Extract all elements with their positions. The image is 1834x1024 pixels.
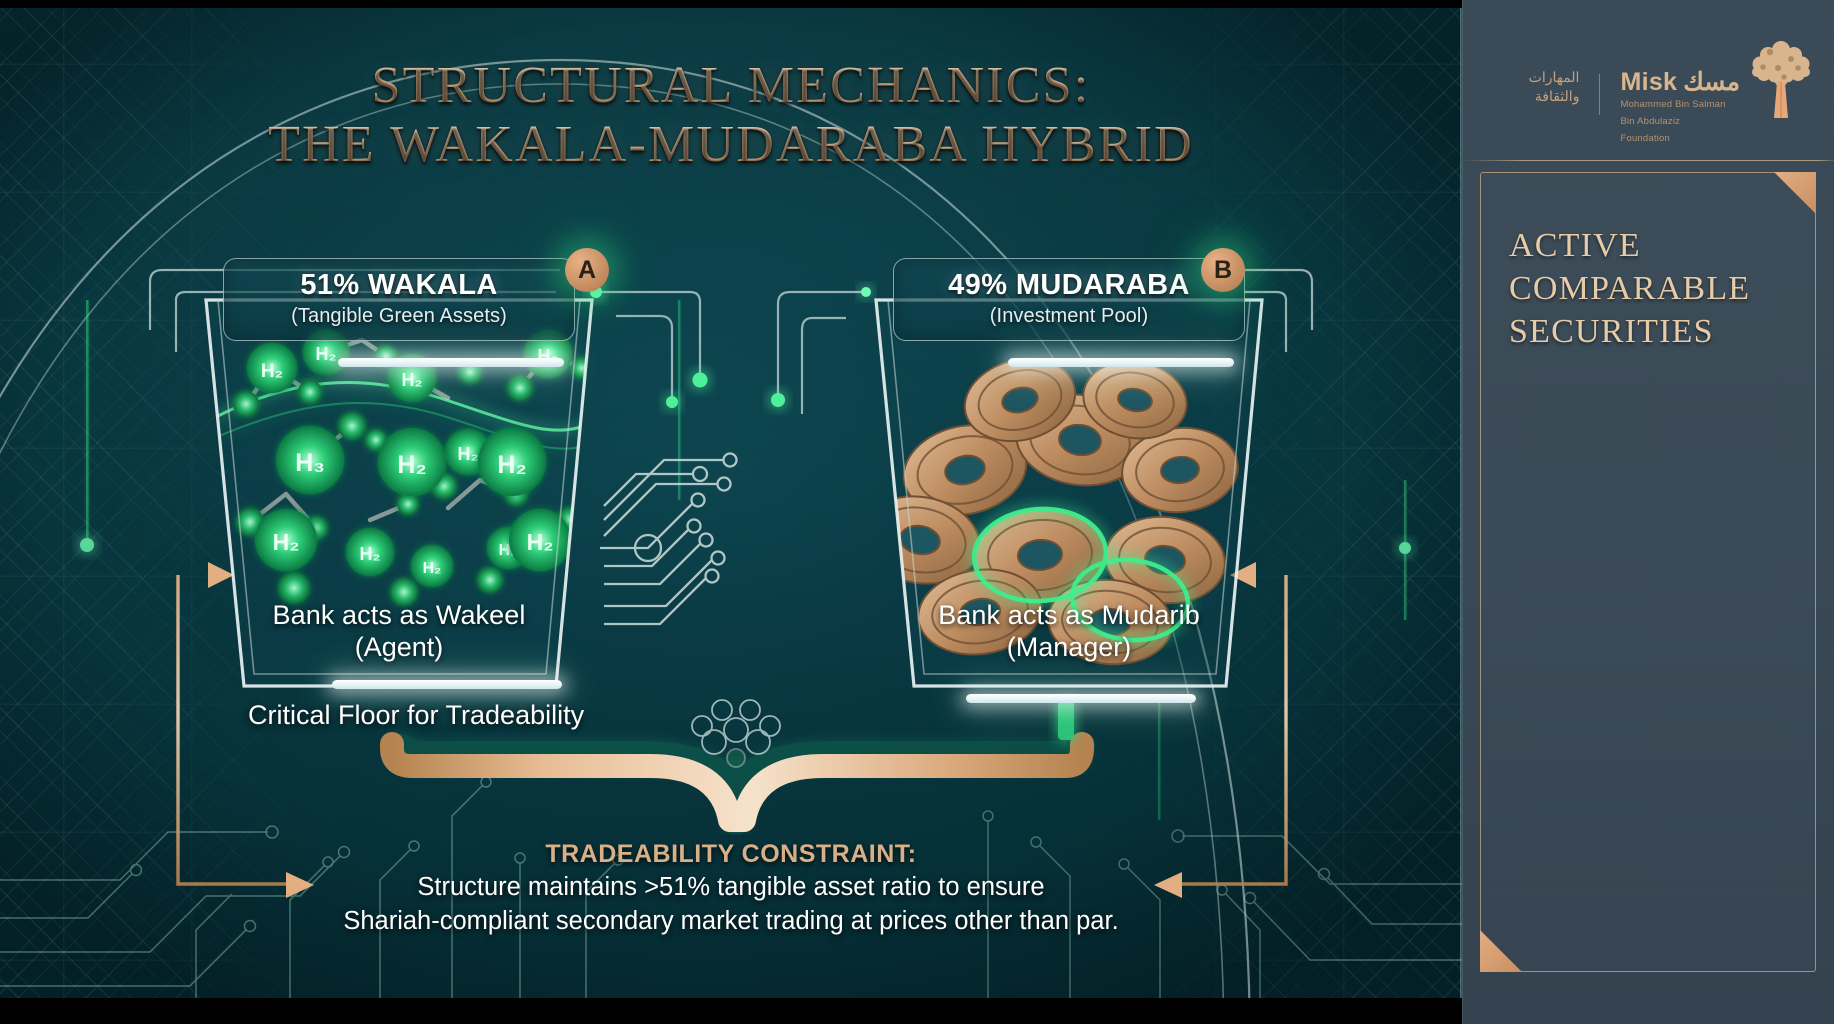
critical-floor-label: Critical Floor for Tradeability — [248, 700, 584, 731]
tree-logo-icon — [1750, 34, 1812, 120]
panel-mudaraba-subtitle: (Investment Pool) — [904, 305, 1234, 328]
logo-wordmark-latin: Misk — [1620, 70, 1677, 95]
panel-wakala-level-bar-top — [338, 358, 564, 367]
logo-arabic-line-2: والثقافة — [1529, 87, 1580, 106]
logo-tagline-3: Foundation — [1620, 133, 1740, 146]
panel-mudaraba-percent: 49% MUDARABA — [904, 269, 1234, 302]
center-ornament — [692, 700, 780, 767]
right-sidebar: المهارات والثقافة Misk مسك Mohammed Bin … — [1462, 0, 1834, 1024]
main-stage: H₂ H₂ H₂ H₂ H₂ H₃ H₂ — [0, 0, 1462, 1024]
logo-arabic-secondary: المهارات والثقافة — [1529, 34, 1580, 106]
constraint-line-2: Shariah-compliant secondary market tradi… — [0, 906, 1462, 937]
sidebar-corner-top-right — [1774, 172, 1816, 214]
misk-logo: المهارات والثقافة Misk مسك Mohammed Bin … — [1529, 34, 1812, 145]
node-dot — [771, 393, 785, 407]
node-dot — [861, 287, 871, 297]
tradeability-constraint: TRADEABILITY CONSTRAINT: Structure maint… — [0, 840, 1462, 937]
logo-divider — [1599, 74, 1600, 115]
sidebar-title-line-2: COMPARABLE — [1509, 268, 1799, 311]
panel-mudaraba-role: Bank acts as Mudarib (Manager) — [859, 600, 1279, 663]
panel-mudaraba-header: 49% MUDARABA (Investment Pool) — [893, 258, 1245, 341]
logo-tagline-1: Mohammed Bin Salman — [1620, 99, 1740, 112]
panel-mudaraba-level-bar-top — [1008, 358, 1234, 367]
logo-arabic-line-1: المهارات — [1529, 68, 1580, 87]
panel-wakala-subtitle: (Tangible Green Assets) — [234, 305, 564, 328]
panel-wakala-percent: 51% WAKALA — [234, 269, 564, 302]
node-dot — [666, 396, 678, 408]
badge-a[interactable]: A — [565, 248, 609, 292]
panel-mudaraba-role-line1: Bank acts as Mudarib — [859, 600, 1279, 631]
panel-mudaraba-level-bar-bottom — [966, 694, 1196, 703]
constraint-line-1: Structure maintains >51% tangible asset … — [0, 872, 1462, 903]
circuit-fan-center — [600, 454, 737, 625]
page-title: STRUCTURAL MECHANICS: THE WAKALA-MUDARAB… — [0, 56, 1462, 175]
panel-wakala-role: Bank acts as Wakeel (Agent) — [189, 600, 609, 663]
sidebar-title: ACTIVE COMPARABLE SECURITIES — [1509, 225, 1799, 353]
panel-seam — [1460, 0, 1463, 1024]
beam-node — [1058, 700, 1074, 740]
letterbox-bottom — [0, 998, 1462, 1024]
title-line-1: STRUCTURAL MECHANICS: — [0, 56, 1462, 115]
panel-wakala-role-line1: Bank acts as Wakeel — [189, 600, 609, 631]
sidebar-title-line-1: ACTIVE — [1509, 225, 1799, 268]
logo-wordmark-arabic: مسك — [1683, 70, 1740, 95]
panel-wakala-role-line2: (Agent) — [189, 632, 609, 663]
badge-b[interactable]: B — [1201, 248, 1245, 292]
logo-wordmark-row: Misk مسك — [1620, 70, 1740, 95]
logo-tagline-2: Bin Abdulaziz — [1620, 116, 1740, 129]
letterbox-top — [0, 0, 1462, 8]
constraint-title: TRADEABILITY CONSTRAINT: — [0, 840, 1462, 869]
panel-mudaraba-role-line2: (Manager) — [859, 632, 1279, 663]
sidebar-title-line-3: SECURITIES — [1509, 311, 1799, 354]
logo-wordmark: Misk مسك Mohammed Bin Salman Bin Abdulaz… — [1620, 34, 1740, 145]
slide-canvas: H₂ H₂ H₂ H₂ H₂ H₃ H₂ — [0, 0, 1834, 1024]
panel-wakala-header: 51% WAKALA (Tangible Green Assets) — [223, 258, 575, 341]
panel-wakala-level-bar-bottom — [332, 680, 562, 689]
sidebar-corner-bottom-left — [1480, 930, 1522, 972]
node-dot — [693, 373, 708, 388]
title-line-2: THE WAKALA-MUDARABA HYBRID — [0, 115, 1462, 174]
sidebar-divider — [1462, 160, 1834, 161]
sidebar-card: ACTIVE COMPARABLE SECURITIES — [1480, 172, 1816, 972]
